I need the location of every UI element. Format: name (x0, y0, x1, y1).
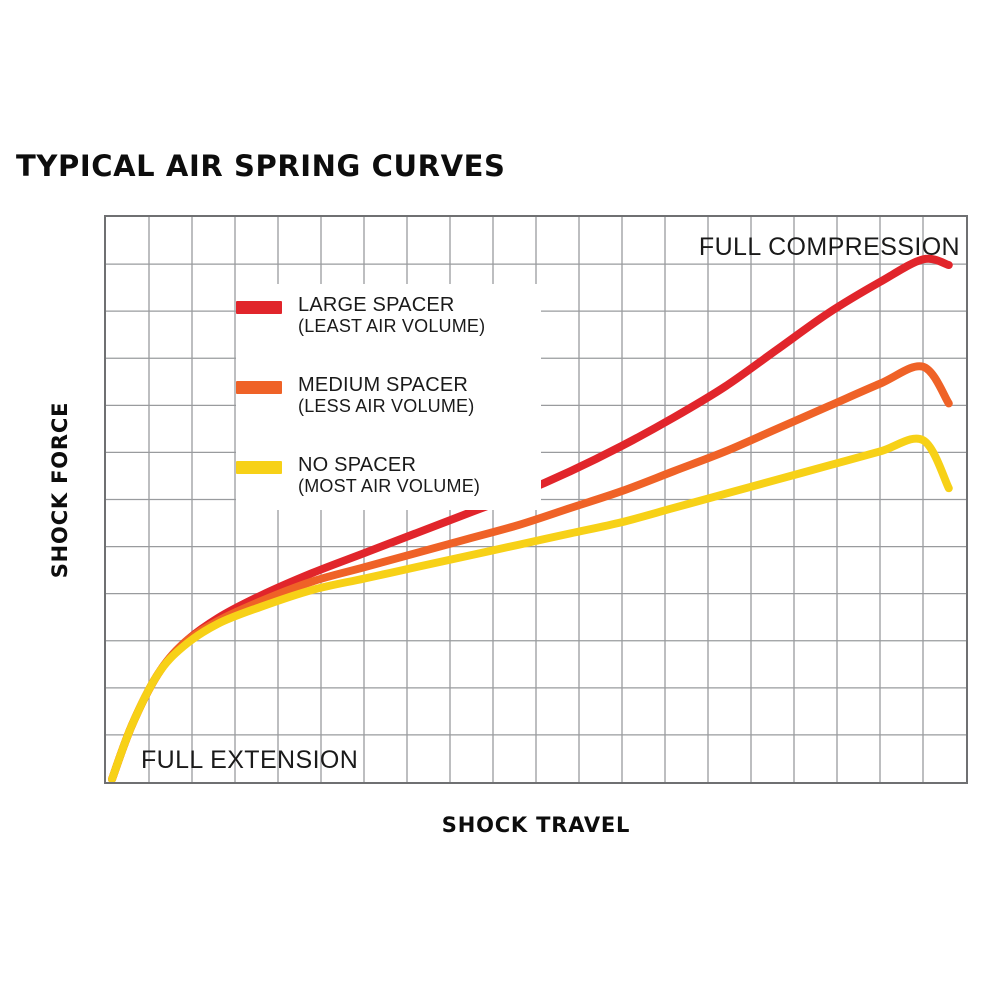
legend-label-medium-spacer: MEDIUM SPACER (298, 374, 468, 396)
y-axis-title: SHOCK FORCE (50, 360, 71, 620)
plot-area: FULL COMPRESSION FULL EXTENSION LARGE SP… (104, 215, 968, 784)
chart-figure: TYPICAL AIR SPRING CURVES FULL COMPRESSI… (0, 0, 1000, 1000)
legend-sublabel-no-spacer: (MOST AIR VOLUME) (298, 476, 480, 496)
legend-item-large-spacer: LARGE SPACER (LEAST AIR VOLUME) (236, 294, 541, 338)
chart-legend: LARGE SPACER (LEAST AIR VOLUME) MEDIUM S… (236, 284, 541, 510)
legend-swatch-no-spacer (236, 461, 282, 474)
annotation-full-compression: FULL COMPRESSION (699, 235, 960, 260)
legend-sublabel-medium-spacer: (LESS AIR VOLUME) (298, 396, 474, 416)
legend-swatch-large-spacer (236, 301, 282, 314)
legend-label-no-spacer: NO SPACER (298, 454, 416, 476)
legend-swatch-medium-spacer (236, 381, 282, 394)
legend-text-large-spacer: LARGE SPACER (LEAST AIR VOLUME) (298, 294, 541, 338)
legend-sublabel-large-spacer: (LEAST AIR VOLUME) (298, 316, 485, 336)
x-axis-title: SHOCK TRAVEL (104, 815, 968, 836)
legend-item-medium-spacer: MEDIUM SPACER (LESS AIR VOLUME) (236, 374, 541, 418)
legend-label-large-spacer: LARGE SPACER (298, 294, 455, 316)
legend-text-no-spacer: NO SPACER (MOST AIR VOLUME) (298, 454, 541, 498)
legend-text-medium-spacer: MEDIUM SPACER (LESS AIR VOLUME) (298, 374, 541, 418)
legend-item-no-spacer: NO SPACER (MOST AIR VOLUME) (236, 454, 541, 498)
annotation-full-extension: FULL EXTENSION (141, 748, 358, 773)
page-title: TYPICAL AIR SPRING CURVES (16, 152, 506, 181)
